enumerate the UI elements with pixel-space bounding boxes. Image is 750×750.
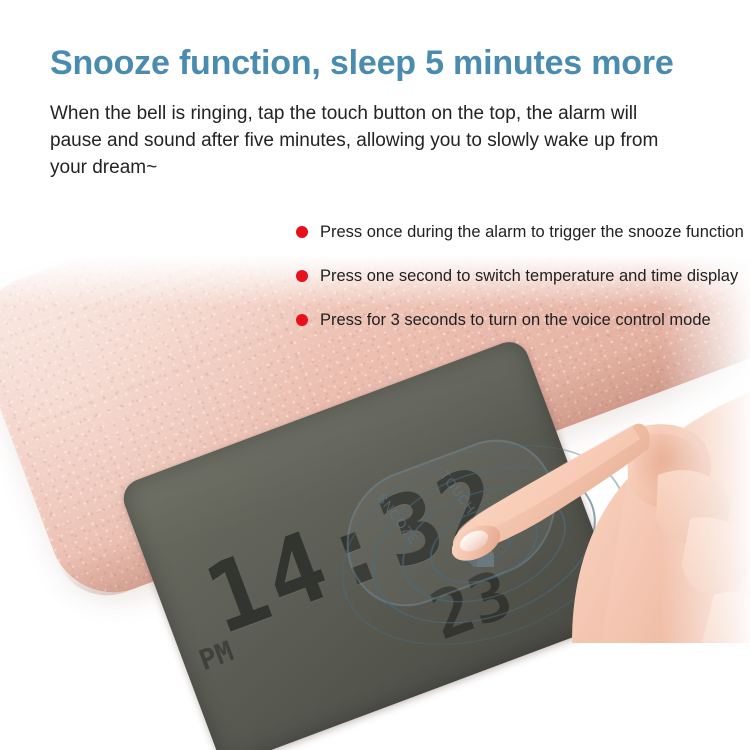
list-item: Press for 3 seconds to turn on the voice… [296,310,726,354]
list-item-label: Press for 3 seconds to turn on the voice… [320,310,711,330]
list-item: Press once during the alarm to trigger t… [296,222,726,266]
page-title: Snooze function, sleep 5 minutes more [50,44,730,83]
product-feature-banner: Snooze function, sleep 5 minutes more Wh… [0,0,750,750]
list-item-label: Press once during the alarm to trigger t… [320,222,744,242]
list-item-label: Press one second to switch temperature a… [320,266,738,286]
list-item: Press one second to switch temperature a… [296,266,726,310]
bullet-dot-icon [296,270,308,282]
description-paragraph: When the bell is ringing, tap the touch … [50,100,690,181]
feature-list: Press once during the alarm to trigger t… [296,222,726,354]
bullet-dot-icon [296,226,308,238]
hand-tap-icon [456,521,510,569]
touch-button[interactable]: SNOOZE TOUCH [332,423,632,663]
bullet-dot-icon [296,314,308,326]
